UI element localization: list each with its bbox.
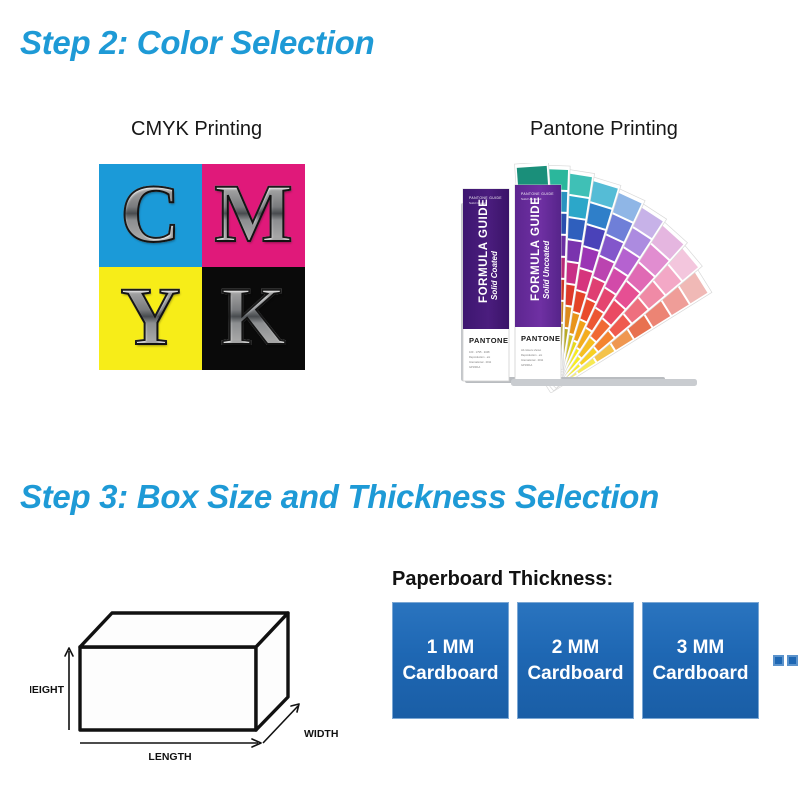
cmyk-letter-y: Y (121, 275, 181, 358)
width-label: WIDTH (304, 728, 338, 740)
svg-text:International · 2011: International · 2011 (469, 360, 492, 364)
paperboard-thickness-title: Paperboard Thickness: (392, 568, 613, 591)
cmyk-cell-black: K (202, 267, 305, 370)
more-dot-1 (773, 655, 784, 666)
thickness-card-1mm[interactable]: 1 MM Cardboard (392, 602, 509, 719)
pantone-uncoated-subtitle: Solid Uncoated (542, 240, 551, 299)
pantone-printing-caption: Pantone Printing (530, 118, 678, 141)
cmyk-cell-yellow: Y (99, 267, 202, 370)
height-arrow (65, 648, 73, 730)
pantone-coated-title: FORMULA GUIDE (478, 199, 490, 303)
step2-heading: Step 2: Color Selection (20, 24, 374, 62)
svg-text:Reproduction · etc: Reproduction · etc (521, 353, 543, 357)
box-dimensions-diagram: HEIGHT LENGTH WIDTH (30, 575, 360, 770)
pantone-uncoated-title: FORMULA GUIDE (530, 197, 542, 301)
step3-heading: Step 3: Box Size and Thickness Selection (20, 478, 659, 516)
pantone-coated-subtitle: Solid Coated (490, 250, 499, 300)
cmyk-cell-magenta: M (202, 164, 305, 267)
svg-text:International · 2011: International · 2011 (521, 358, 544, 362)
pantone-uncoated-brand: PANTONE (521, 334, 560, 343)
pantone-uncoated-header-text: PANTONE GUIDE (521, 192, 554, 196)
thickness-card-1mm-material: Cardboard (402, 661, 498, 687)
more-dot-2 (787, 655, 798, 666)
svg-text:Reproduction · etc: Reproduction · etc (469, 355, 491, 359)
svg-text:GP1601A: GP1601A (469, 365, 481, 369)
pantone-coated-brand: PANTONE (469, 336, 508, 345)
length-arrow (80, 739, 261, 747)
thickness-card-list: 1 MM Cardboard 2 MM Cardboard 3 MM Cardb… (392, 602, 800, 719)
height-label: HEIGHT (30, 684, 65, 696)
more-thickness-options-indicator[interactable] (773, 655, 800, 666)
cmyk-printing-caption: CMYK Printing (131, 118, 262, 141)
pantone-guide-coated: PANTONE GUIDE Solid Coated FORMULA GUIDE… (463, 189, 509, 381)
thickness-card-2mm-value: 2 MM (552, 635, 600, 661)
cmyk-cell-cyan: C (99, 164, 202, 267)
thickness-card-3mm-material: Cardboard (652, 661, 748, 687)
box-top-face (80, 613, 288, 647)
cmyk-letter-c: C (121, 172, 181, 255)
pantone-fan-deck-image: PANTONE GUIDE Solid Coated FORMULA GUIDE… (445, 163, 745, 393)
cmyk-color-block: C M Y K (99, 164, 305, 370)
pantone-base-bar (511, 379, 697, 386)
svg-text:100 · 1795 · 2348: 100 · 1795 · 2348 (469, 350, 490, 354)
svg-text:All colours shown: All colours shown (521, 348, 542, 352)
slide-page: Step 2: Color Selection CMYK Printing Pa… (0, 0, 800, 800)
pantone-guide-uncoated: PANTONE GUIDE Solid Uncoated FORMULA GUI… (515, 185, 561, 381)
thickness-card-2mm[interactable]: 2 MM Cardboard (517, 602, 634, 719)
cmyk-letter-k: K (221, 275, 286, 358)
svg-text:GP1601A: GP1601A (521, 363, 533, 367)
length-label: LENGTH (148, 751, 191, 763)
thickness-card-3mm[interactable]: 3 MM Cardboard (642, 602, 759, 719)
box-front-face (80, 647, 256, 730)
cmyk-letter-m: M (214, 172, 292, 255)
thickness-card-2mm-material: Cardboard (527, 661, 623, 687)
thickness-card-1mm-value: 1 MM (427, 635, 475, 661)
thickness-card-3mm-value: 3 MM (677, 635, 725, 661)
